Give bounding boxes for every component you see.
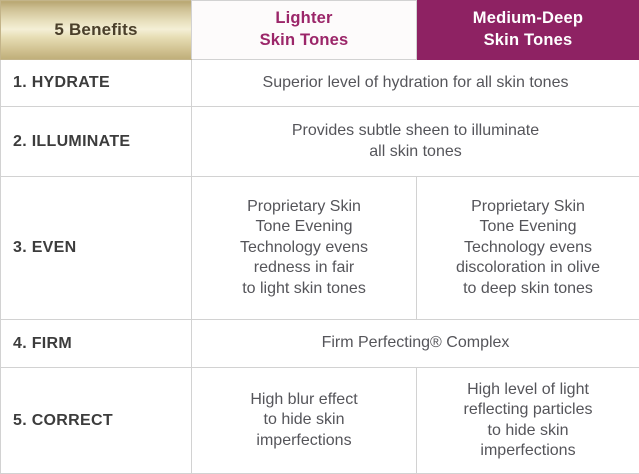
benefit-desc-hydrate-shared: Superior level of hydration for all skin…: [192, 60, 639, 107]
header-cell-medium-deep-skin-tones: Medium-Deep Skin Tones: [417, 1, 639, 60]
benefit-desc-correct-lighter: High blur effect to hide skin imperfecti…: [192, 368, 417, 474]
table-row: 2. ILLUMINATE Provides subtle sheen to i…: [1, 107, 639, 177]
desc-line: reflecting particles: [423, 400, 633, 420]
benefit-desc-even-deep: Proprietary Skin Tone Evening Technology…: [417, 177, 639, 320]
desc-line: Proprietary Skin: [423, 197, 633, 217]
header-lighter-line1: Lighter: [192, 8, 416, 30]
desc-line: High level of light: [423, 380, 633, 400]
desc-line: Tone Evening: [198, 217, 410, 237]
header-deep-line2: Skin Tones: [417, 30, 639, 52]
table-row: 1. HYDRATE Superior level of hydration f…: [1, 60, 639, 107]
header-benefits-label: 5 Benefits: [54, 20, 137, 39]
desc-line: to hide skin: [198, 410, 410, 430]
table-header-row: 5 Benefits Lighter Skin Tones Medium-Dee…: [1, 1, 639, 60]
desc-line: High blur effect: [198, 390, 410, 410]
benefit-label-firm: 4. FIRM: [1, 320, 192, 368]
desc-line: imperfections: [423, 441, 633, 461]
desc-line: Firm Perfecting® Complex: [198, 333, 633, 353]
table-row: 4. FIRM Firm Perfecting® Complex: [1, 320, 639, 368]
desc-line: discoloration in olive: [423, 258, 633, 278]
desc-line: to deep skin tones: [423, 279, 633, 299]
desc-line: to light skin tones: [198, 279, 410, 299]
header-cell-benefits: 5 Benefits: [1, 1, 192, 60]
desc-line: Technology evens: [423, 238, 633, 258]
benefit-label-illuminate: 2. ILLUMINATE: [1, 107, 192, 177]
benefits-comparison-table: 5 Benefits Lighter Skin Tones Medium-Dee…: [0, 0, 639, 474]
table-body: 1. HYDRATE Superior level of hydration f…: [1, 60, 639, 474]
benefit-label-correct: 5. CORRECT: [1, 368, 192, 474]
benefit-desc-correct-deep: High level of light reflecting particles…: [417, 368, 639, 474]
benefit-desc-illuminate-shared: Provides subtle sheen to illuminate all …: [192, 107, 639, 177]
table-row: 5. CORRECT High blur effect to hide skin…: [1, 368, 639, 474]
desc-line: redness in fair: [198, 258, 410, 278]
header-lighter-line2: Skin Tones: [192, 30, 416, 52]
desc-line: Proprietary Skin: [198, 197, 410, 217]
desc-line: all skin tones: [198, 142, 633, 162]
desc-line: to hide skin: [423, 421, 633, 441]
benefit-label-hydrate: 1. HYDRATE: [1, 60, 192, 107]
desc-line: Provides subtle sheen to illuminate: [198, 121, 633, 141]
header-deep-line1: Medium-Deep: [417, 8, 639, 30]
benefit-label-even: 3. EVEN: [1, 177, 192, 320]
benefit-desc-even-lighter: Proprietary Skin Tone Evening Technology…: [192, 177, 417, 320]
benefit-desc-firm-shared: Firm Perfecting® Complex: [192, 320, 639, 368]
desc-line: Superior level of hydration for all skin…: [198, 73, 633, 93]
desc-line: Technology evens: [198, 238, 410, 258]
desc-line: Tone Evening: [423, 217, 633, 237]
table-row: 3. EVEN Proprietary Skin Tone Evening Te…: [1, 177, 639, 320]
desc-line: imperfections: [198, 431, 410, 451]
header-cell-lighter-skin-tones: Lighter Skin Tones: [192, 1, 417, 60]
